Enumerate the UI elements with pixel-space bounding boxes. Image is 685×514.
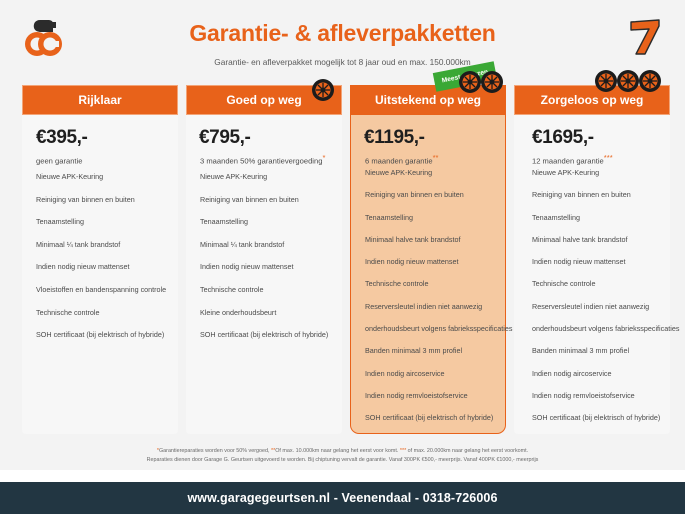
feature-item: Tenaamstelling (200, 218, 334, 225)
feature-item: Minimaal ¼ tank brandstof (36, 241, 170, 248)
package-price-subtitle: 3 maanden 50% garantievergoeding* (200, 153, 325, 166)
footer-contact-text: www.garagegeurtsen.nl - Veenendaal - 031… (187, 491, 497, 505)
feature-item: Tenaamstelling (532, 214, 662, 221)
tire-icon (311, 78, 335, 102)
tire-rating-uitstekend-op-weg (458, 70, 502, 94)
feature-item: Vloeistoffen en bandenspanning controle (36, 286, 170, 293)
package-price: €395,- (36, 127, 87, 149)
feature-item: Technische controle (36, 309, 170, 316)
package-name: Rijklaar (78, 93, 121, 107)
feature-item: Nieuwe APK-Keuring (532, 169, 662, 176)
page-title: Garantie- & afleverpakketten (0, 20, 685, 47)
package-price-subtitle: geen garantie (36, 153, 82, 166)
package-price-marker: ** (433, 153, 439, 162)
disclaimer-text-2: Of max. 10.000km naar gelang het eerst v… (275, 448, 400, 454)
feature-item: onderhoudsbeurt volgens fabrieksspecific… (532, 325, 662, 332)
feature-item: Banden minimaal 3 mm profiel (532, 347, 662, 354)
disclaimer-line-1: *Garantiereparaties worden voor 50% verg… (60, 447, 625, 456)
feature-item: onderhoudsbeurt volgens fabrieksspecific… (365, 325, 497, 332)
feature-item: Indien nodig remvloeistofservice (365, 392, 497, 399)
feature-item: Technische controle (532, 280, 662, 287)
package-price-subtitle-text: 12 maanden garantie (532, 157, 604, 166)
package-price: €795,- (199, 127, 250, 149)
feature-item: Reiniging van binnen en buiten (36, 196, 170, 203)
feature-item: Reserversleutel indien niet aanwezig (365, 303, 497, 310)
package-price-subtitle: 6 maanden garantie** (365, 153, 438, 166)
package-name: Uitstekend op weg (375, 93, 481, 107)
feature-item: Indien nodig remvloeistofservice (532, 392, 662, 399)
feature-item: Nieuwe APK-Keuring (36, 173, 170, 180)
package-price: €1195,- (364, 127, 425, 149)
disclaimer-text-3: of max. 20.000km naar gelang het eerst v… (406, 448, 528, 454)
feature-item: Minimaal halve tank brandstof (365, 236, 497, 243)
tire-rating-zorgeloos-op-weg (594, 69, 660, 93)
package-price-subtitle: 12 maanden garantie*** (532, 153, 613, 166)
package-name: Zorgeloos op weg (541, 93, 644, 107)
tire-rating-goed-op-weg (311, 78, 333, 102)
feature-item: SOH certificaat (bij elektrisch of hybri… (532, 414, 662, 421)
feature-item: Technische controle (200, 286, 334, 293)
feature-list: Nieuwe APK-Keuring Reiniging van binnen … (200, 173, 334, 354)
package-price-subtitle-text: 6 maanden garantie (365, 157, 433, 166)
feature-list: Nieuwe APK-Keuring Reiniging van binnen … (532, 169, 662, 437)
feature-item: Reiniging van binnen en buiten (532, 191, 662, 198)
feature-item: SOH certificaat (bij elektrisch of hybri… (200, 331, 334, 338)
feature-item: SOH certificaat (bij elektrisch of hybri… (365, 414, 497, 421)
feature-item: Reserversleutel indien niet aanwezig (532, 303, 662, 310)
package-card-rijklaar[interactable]: €395,- geen garantie Nieuwe APK-Keuring … (22, 113, 178, 434)
disclaimer: *Garantiereparaties worden voor 50% verg… (60, 447, 625, 466)
disclaimer-text-1: Garantiereparaties worden voor 50% vergo… (159, 448, 271, 454)
tire-icon (616, 69, 640, 93)
feature-item: Reiniging van binnen en buiten (200, 196, 334, 203)
package-price: €1695,- (532, 127, 594, 149)
feature-item: SOH certificaat (bij elektrisch of hybri… (36, 331, 170, 338)
feature-item: Minimaal ¼ tank brandstof (200, 241, 334, 248)
feature-item: Indien nodig aircoservice (365, 370, 497, 377)
package-header-rijklaar[interactable]: Rijklaar (22, 85, 178, 115)
feature-item: Banden minimaal 3 mm profiel (365, 347, 497, 354)
package-card-zorgeloos-op-weg[interactable]: €1695,- 12 maanden garantie*** Nieuwe AP… (514, 113, 670, 434)
feature-item: Indien nodig aircoservice (532, 370, 662, 377)
feature-item: Nieuwe APK-Keuring (365, 169, 497, 176)
feature-item: Nieuwe APK-Keuring (200, 173, 334, 180)
feature-item: Indien nodig nieuw mattenset (200, 263, 334, 270)
footer-bar: www.garagegeurtsen.nl - Veenendaal - 031… (0, 482, 685, 514)
feature-item: Indien nodig nieuw mattenset (365, 258, 497, 265)
feature-item: Tenaamstelling (36, 218, 170, 225)
number-seven-logo (621, 12, 667, 58)
header: Garantie- & afleverpakketten Garantie- e… (0, 0, 685, 78)
feature-item: Kleine onderhoudsbeurt (200, 309, 334, 316)
package-price-subtitle-text: geen garantie (36, 157, 82, 166)
package-price-marker: * (322, 153, 325, 162)
feature-item: Technische controle (365, 280, 497, 287)
package-card-uitstekend-op-weg[interactable]: €1195,- 6 maanden garantie** Nieuwe APK-… (350, 113, 506, 434)
disclaimer-line-2: Reparaties dienen door Garage G. Geurtse… (60, 456, 625, 465)
package-name: Goed op weg (226, 93, 301, 107)
feature-item: Indien nodig nieuw mattenset (532, 258, 662, 265)
page-subtitle: Garantie- en afleverpakket mogelijk tot … (0, 57, 685, 67)
pricing-poster: Garantie- & afleverpakketten Garantie- e… (0, 0, 685, 514)
feature-list: Nieuwe APK-Keuring Reiniging van binnen … (365, 169, 497, 437)
feature-item: Indien nodig nieuw mattenset (36, 263, 170, 270)
tire-icon (480, 70, 504, 94)
tire-icon (458, 70, 482, 94)
package-card-goed-op-weg[interactable]: €795,- 3 maanden 50% garantievergoeding*… (186, 113, 342, 434)
feature-item: Tenaamstelling (365, 214, 497, 221)
tire-icon (594, 69, 618, 93)
package-price-subtitle-text: 3 maanden 50% garantievergoeding (200, 157, 322, 166)
package-price-marker: *** (604, 153, 613, 162)
feature-list: Nieuwe APK-Keuring Reiniging van binnen … (36, 173, 170, 354)
tire-icon (638, 69, 662, 93)
feature-item: Minimaal halve tank brandstof (532, 236, 662, 243)
feature-item: Reiniging van binnen en buiten (365, 191, 497, 198)
